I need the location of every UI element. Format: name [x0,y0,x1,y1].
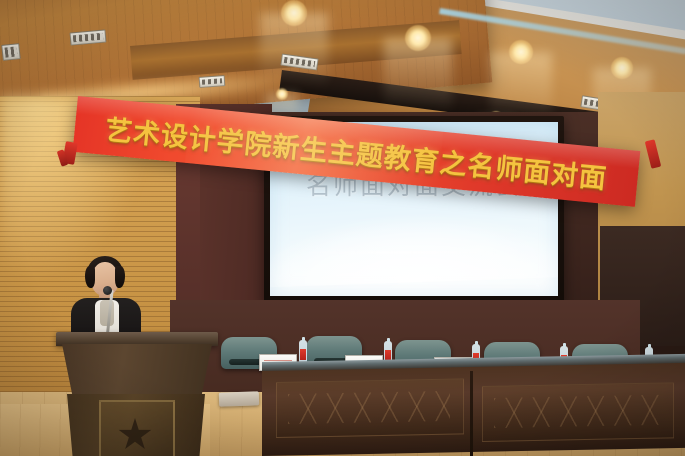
table-carving-right [494,395,660,428]
ceiling-spotlight-0 [281,0,307,26]
ceiling-spotlight-2 [509,40,533,64]
podium-top-surface [56,332,218,346]
ceiling-spotlight-1 [405,25,431,51]
ceiling-light-fixture-5 [1,43,21,61]
floor-prop-object [219,391,259,406]
ceiling-light-fixture-2 [199,75,226,88]
podium-body [62,344,212,396]
microphone-head [103,286,112,295]
ceiling-spotlight-3 [611,57,633,79]
speaker-hair-side-left [85,266,95,288]
ceiling-spotlight-5 [276,88,288,100]
table-center-seam [470,371,473,456]
lecture-hall-photo: 名师面对面交流会 艺术设计学院新生主题教育之名师面对面 [0,0,685,456]
table-carving-left [288,391,450,424]
